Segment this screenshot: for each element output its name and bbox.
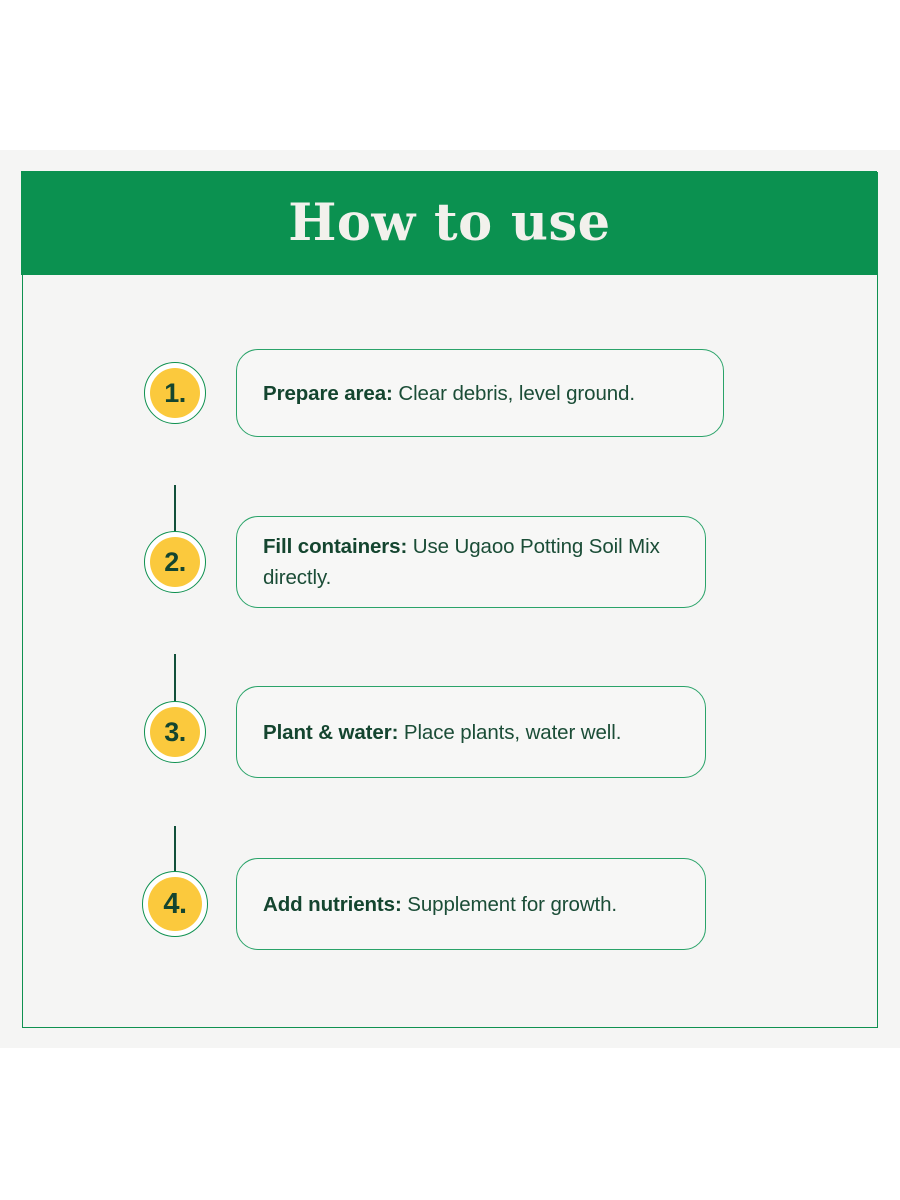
card-header: How to use: [21, 171, 877, 275]
badge-core: 2.: [150, 537, 200, 587]
step-body: Place plants, water well.: [398, 721, 621, 744]
step-number: 2.: [164, 549, 186, 576]
step-description-box: Plant & water: Place plants, water well.: [236, 686, 706, 778]
step-item: 3. Plant & water: Place plants, water we…: [23, 686, 875, 778]
badge-core: 1.: [150, 368, 200, 418]
step-label: Add nutrients:: [263, 893, 402, 916]
step-number-badge: 3.: [144, 701, 206, 763]
step-description-box: Prepare area: Clear debris, level ground…: [236, 349, 724, 437]
badge-core: 4.: [148, 877, 202, 931]
step-label: Fill containers:: [263, 535, 407, 558]
badge-core: 3.: [150, 707, 200, 757]
step-item: 2. Fill containers: Use Ugaoo Potting So…: [23, 516, 875, 608]
page-title: How to use: [288, 198, 610, 249]
step-body: Clear debris, level ground.: [393, 382, 635, 405]
step-description: Plant & water: Place plants, water well.: [263, 717, 621, 748]
step-description-box: Fill containers: Use Ugaoo Potting Soil …: [236, 516, 706, 608]
page-root: How to use 1. Prepare area: Clear debris…: [0, 0, 900, 1200]
step-number-badge: 2.: [144, 531, 206, 593]
step-item: 1. Prepare area: Clear debris, level gro…: [23, 349, 875, 437]
step-number: 1.: [164, 380, 186, 407]
step-number: 3.: [164, 719, 186, 746]
step-item: 4. Add nutrients: Supplement for growth.: [23, 858, 875, 950]
step-description-box: Add nutrients: Supplement for growth.: [236, 858, 706, 950]
step-description: Prepare area: Clear debris, level ground…: [263, 378, 635, 409]
step-number: 4.: [163, 890, 186, 919]
step-description: Add nutrients: Supplement for growth.: [263, 889, 617, 920]
step-number-badge: 1.: [144, 362, 206, 424]
how-to-use-card: How to use 1. Prepare area: Clear debris…: [22, 172, 878, 1028]
step-number-badge: 4.: [142, 871, 208, 937]
steps-list: 1. Prepare area: Clear debris, level gro…: [23, 277, 875, 1025]
step-description: Fill containers: Use Ugaoo Potting Soil …: [263, 531, 679, 593]
step-label: Prepare area:: [263, 382, 393, 405]
step-body: Supplement for growth.: [402, 893, 617, 916]
step-label: Plant & water:: [263, 721, 398, 744]
